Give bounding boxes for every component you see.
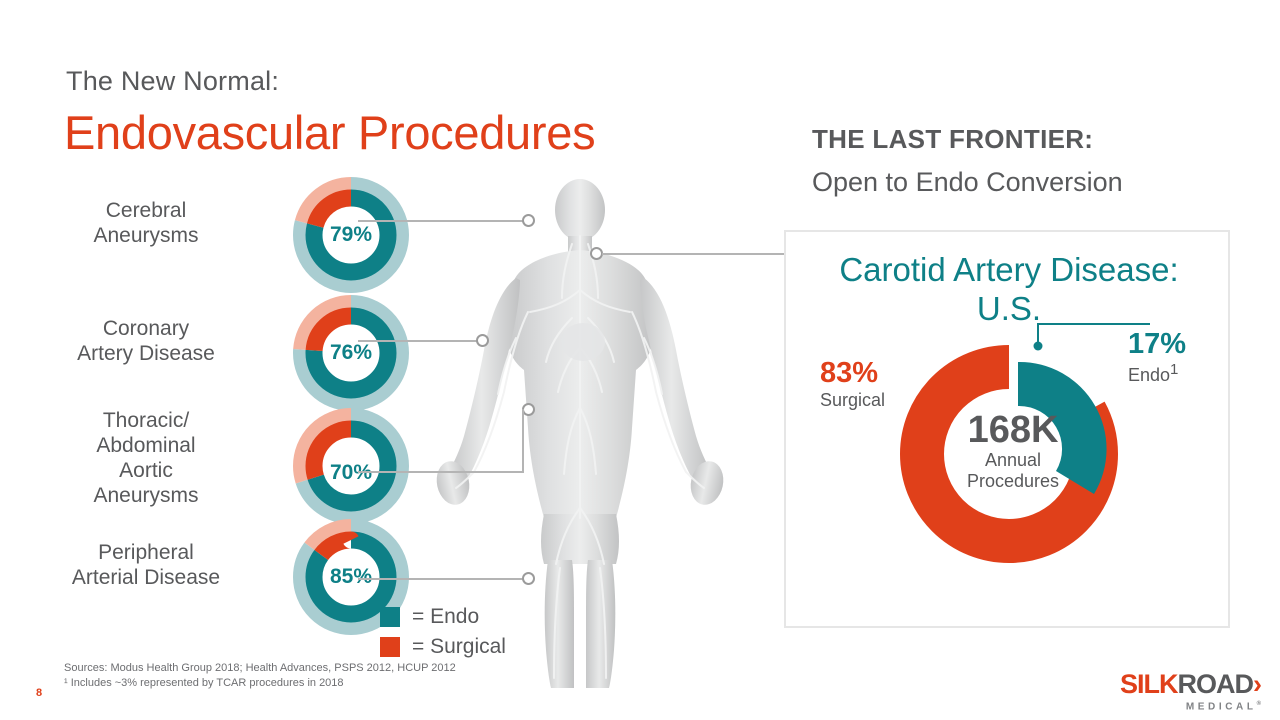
donut-label-cerebral-aneurysms: Cerebral Aneurysms [60,198,232,248]
legend-label-surgical: = Surgical [412,635,506,659]
donut-label-coronary-artery-disease: Coronary Artery Disease [60,316,232,366]
panel-title: Carotid Artery Disease: U.S. [786,250,1232,328]
frontier-kicker: THE LAST FRONTIER: [812,124,1093,155]
surgical-callout: 83% Surgical [820,357,885,411]
logo-subtext: MEDICAL® [1120,698,1261,713]
logo-wordmark: SILKROAD› [1120,670,1261,698]
donut-chart-coronary-artery-disease: 76% [292,294,410,412]
legend-item-endo: = Endo [380,602,506,632]
donut-chart-thoracic-abdominal-aortic-aneurysms: 70% [292,407,410,525]
donut-label-peripheral-arterial-disease: Peripheral Arterial Disease [60,540,232,590]
donut-chart-carotid-artery-disease: 168K Annual Procedures [884,326,1142,576]
silkroad-medical-logo: SILKROAD› MEDICAL® [1120,670,1261,713]
slide-eyebrow: The New Normal: [66,66,279,97]
slide-canvas: The New Normal: Endovascular Procedures … [0,0,1280,720]
chart-legend: = Endo = Surgical [380,602,506,662]
legend-swatch-endo-icon [380,607,400,627]
donut-label-thoracic-abdominal-aortic-aneurysms: Thoracic/ Abdominal Aortic Aneurysms [60,408,232,508]
slide-number: 8 [36,687,42,699]
legend-item-surgical: = Surgical [380,632,506,662]
surgical-percentage: 83% [820,357,885,390]
sources-footnote: Sources: Modus Health Group 2018; Health… [64,661,456,691]
surgical-label: Surgical [820,390,885,411]
legend-label-endo: = Endo [412,605,479,629]
metric-row-thoracic-abdominal-aortic-aneurysms: Thoracic/ Abdominal Aortic Aneurysms 70% [60,400,420,520]
metric-row-cerebral-aneurysms: Cerebral Aneurysms 79% [60,176,420,296]
frontier-subtitle: Open to Endo Conversion [812,167,1123,198]
page-title: Endovascular Procedures [64,105,595,160]
donut-chart-cerebral-aneurysms: 79% [292,176,410,294]
legend-swatch-surgical-icon [380,637,400,657]
metric-row-coronary-artery-disease: Coronary Artery Disease 76% [60,294,420,414]
carotid-artery-disease-panel: Carotid Artery Disease: U.S. 17% Endo1 8… [784,230,1230,628]
